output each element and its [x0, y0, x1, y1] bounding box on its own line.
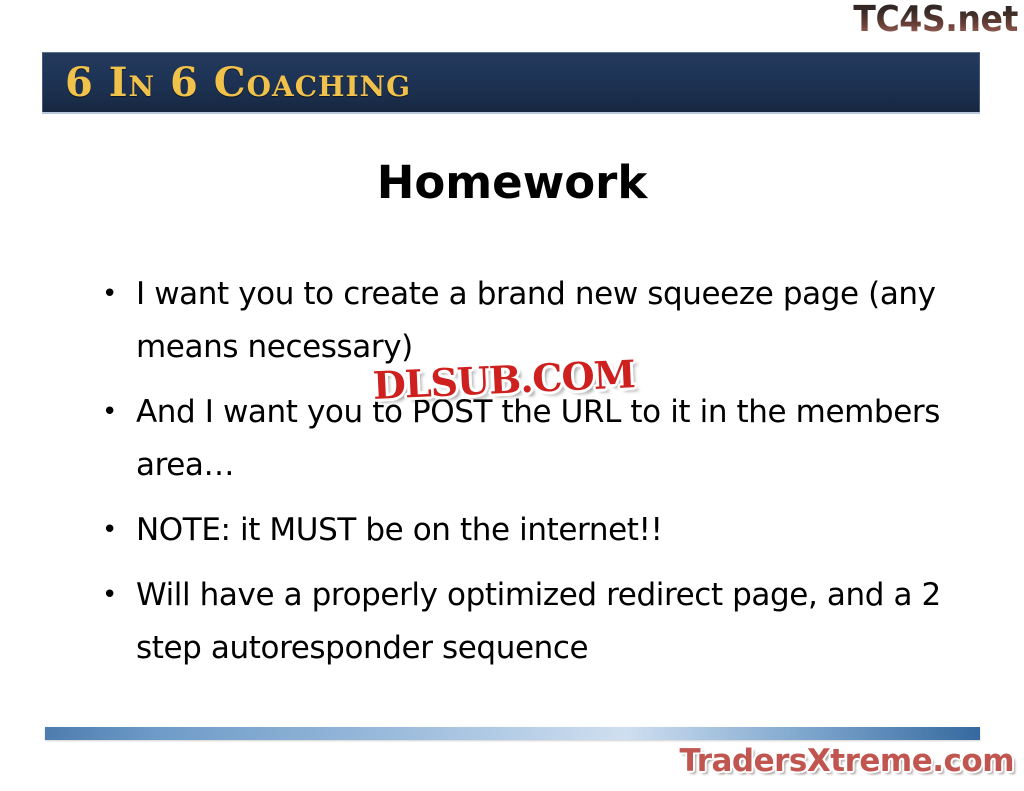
list-item: NOTE: it MUST be on the internet!! [96, 504, 946, 557]
page-title: Homework [0, 157, 1024, 209]
footer-divider-bar [45, 727, 980, 740]
bullet-list: I want you to create a brand new squeeze… [96, 268, 946, 687]
tc4s-corner-logo: TC4S.net [853, 0, 1018, 40]
header-banner: 6 In 6 Coaching [42, 52, 980, 112]
list-item: I want you to create a brand new squeeze… [96, 268, 946, 374]
tradersxtreme-footer-logo: TradersXtreme.com [679, 744, 1014, 778]
list-item: And I want you to POST the URL to it in … [96, 386, 946, 492]
slide-canvas: TC4S.net 6 In 6 Coaching Homework I want… [0, 0, 1024, 791]
list-item: Will have a properly optimized redirect … [96, 569, 946, 675]
header-banner-title: 6 In 6 Coaching [43, 63, 411, 103]
